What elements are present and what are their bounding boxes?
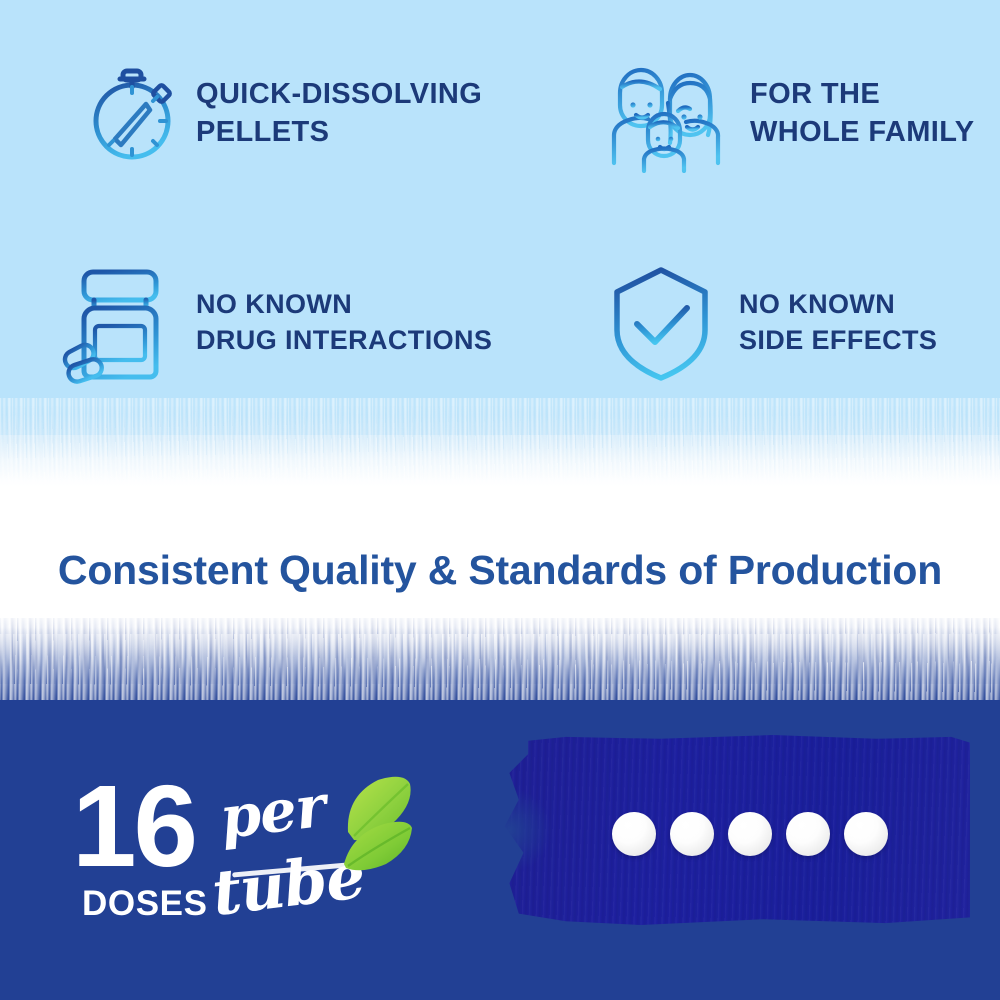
doses-number: 16 [72,768,195,884]
feature-label: FOR THE WHOLE FAMILY [750,75,974,152]
feature-line-2: SIDE EFFECTS [739,323,937,359]
feature-line-2: WHOLE FAMILY [750,113,974,151]
mint-leaf-icon [330,770,430,880]
feature-line-2: PELLETS [196,113,482,151]
feature-line-1: FOR THE [750,78,880,110]
feature-whole-family: FOR THE WHOLE FAMILY [600,52,990,174]
doses-count-block: 16 DOSES per tube [72,770,432,930]
quality-banner-title: Consistent Quality & Standards of Produc… [58,547,942,594]
feature-label: NO KNOWN DRUG INTERACTIONS [196,287,492,358]
feature-label: QUICK-DISSOLVING PELLETS [196,75,482,152]
top-brush-transition [0,398,1000,518]
family-icon [600,52,728,174]
feature-line-1: NO KNOWN [196,289,352,319]
feature-line-1: NO KNOWN [739,289,895,319]
stopwatch-icon [62,52,174,174]
doses-label: DOSES [82,884,208,924]
script-per-text: per [216,772,329,852]
feature-line-2: DRUG INTERACTIONS [196,323,492,359]
pill-bottle-icon [62,262,174,384]
pellet [670,812,714,856]
pellet [844,812,888,856]
feature-no-side-effects: NO KNOWN SIDE EFFECTS [605,262,985,384]
feature-line-1: QUICK-DISSOLVING [196,78,482,110]
pellet [612,812,656,856]
feature-grid: QUICK-DISSOLVING PELLETS [0,0,1000,420]
pellet [786,812,830,856]
feature-label: NO KNOWN SIDE EFFECTS [739,287,937,358]
feature-quick-dissolving-pellets: QUICK-DISSOLVING PELLETS [62,52,492,174]
shield-check-icon [605,262,717,384]
product-feature-poster: QUICK-DISSOLVING PELLETS [0,0,1000,1000]
pellet [728,812,772,856]
pellet-row [612,812,888,856]
feature-no-drug-interactions: NO KNOWN DRUG INTERACTIONS [62,262,502,384]
